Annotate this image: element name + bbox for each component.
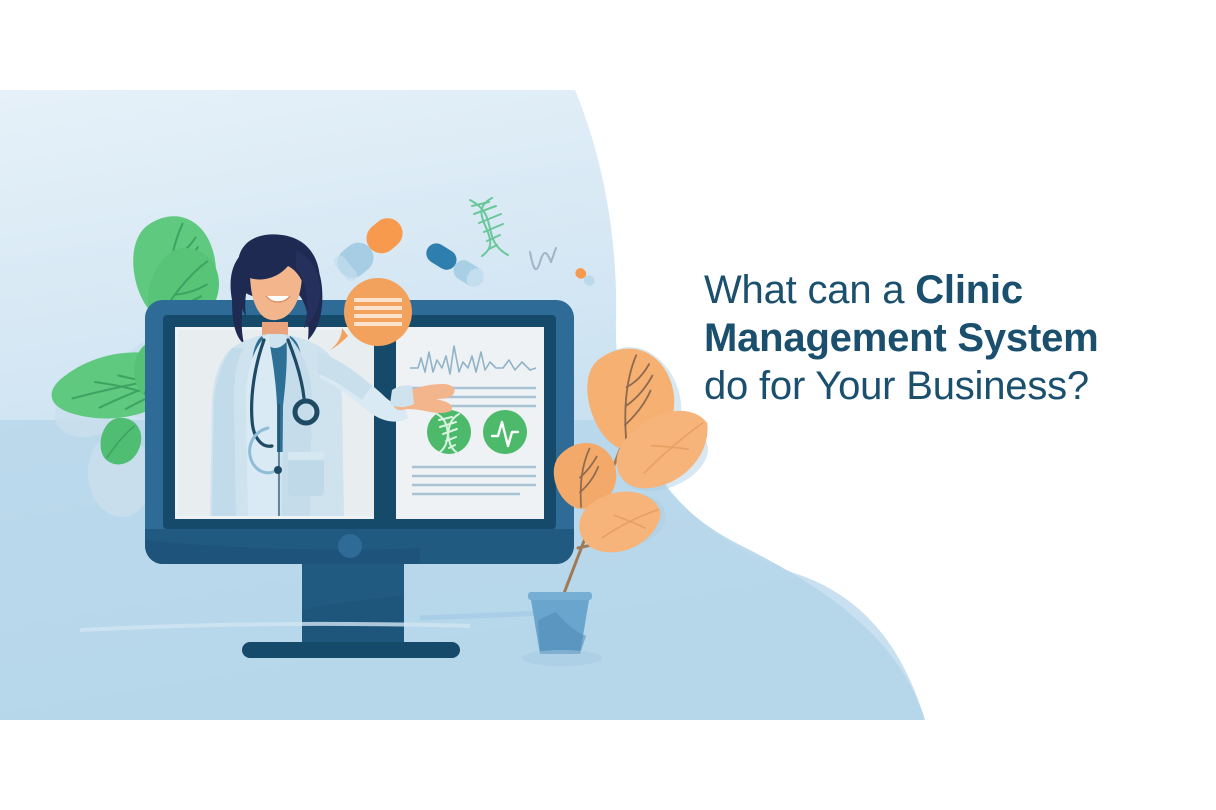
monitor-power-button [338, 534, 362, 558]
desk-line [80, 624, 470, 630]
speech-bubble-body [344, 278, 412, 346]
headline-line-1: What can a Clinic [704, 266, 1174, 314]
stethoscope-earpiece [274, 466, 282, 474]
decoration-capsule-small [573, 266, 596, 288]
dna-helix-icon [470, 198, 508, 256]
headline-line-1-bold: Clinic [915, 268, 1023, 312]
headline-line-2-bold: Management System [704, 314, 1174, 362]
screen-divider [374, 327, 396, 519]
plant-pot [528, 592, 592, 654]
page-title: What can a Clinic Management System do f… [704, 266, 1174, 410]
pot-shadow [522, 650, 602, 666]
headline-line-3: do for Your Business? [704, 362, 1174, 410]
headline-line-1-normal: What can a [704, 268, 915, 312]
poster-canvas: What can a Clinic Management System do f… [0, 0, 1216, 810]
scribble-mark-icon [530, 248, 556, 269]
decoration-capsule-blue [423, 240, 488, 291]
decoration-capsule-large [331, 212, 409, 284]
monitor-base [242, 642, 460, 658]
